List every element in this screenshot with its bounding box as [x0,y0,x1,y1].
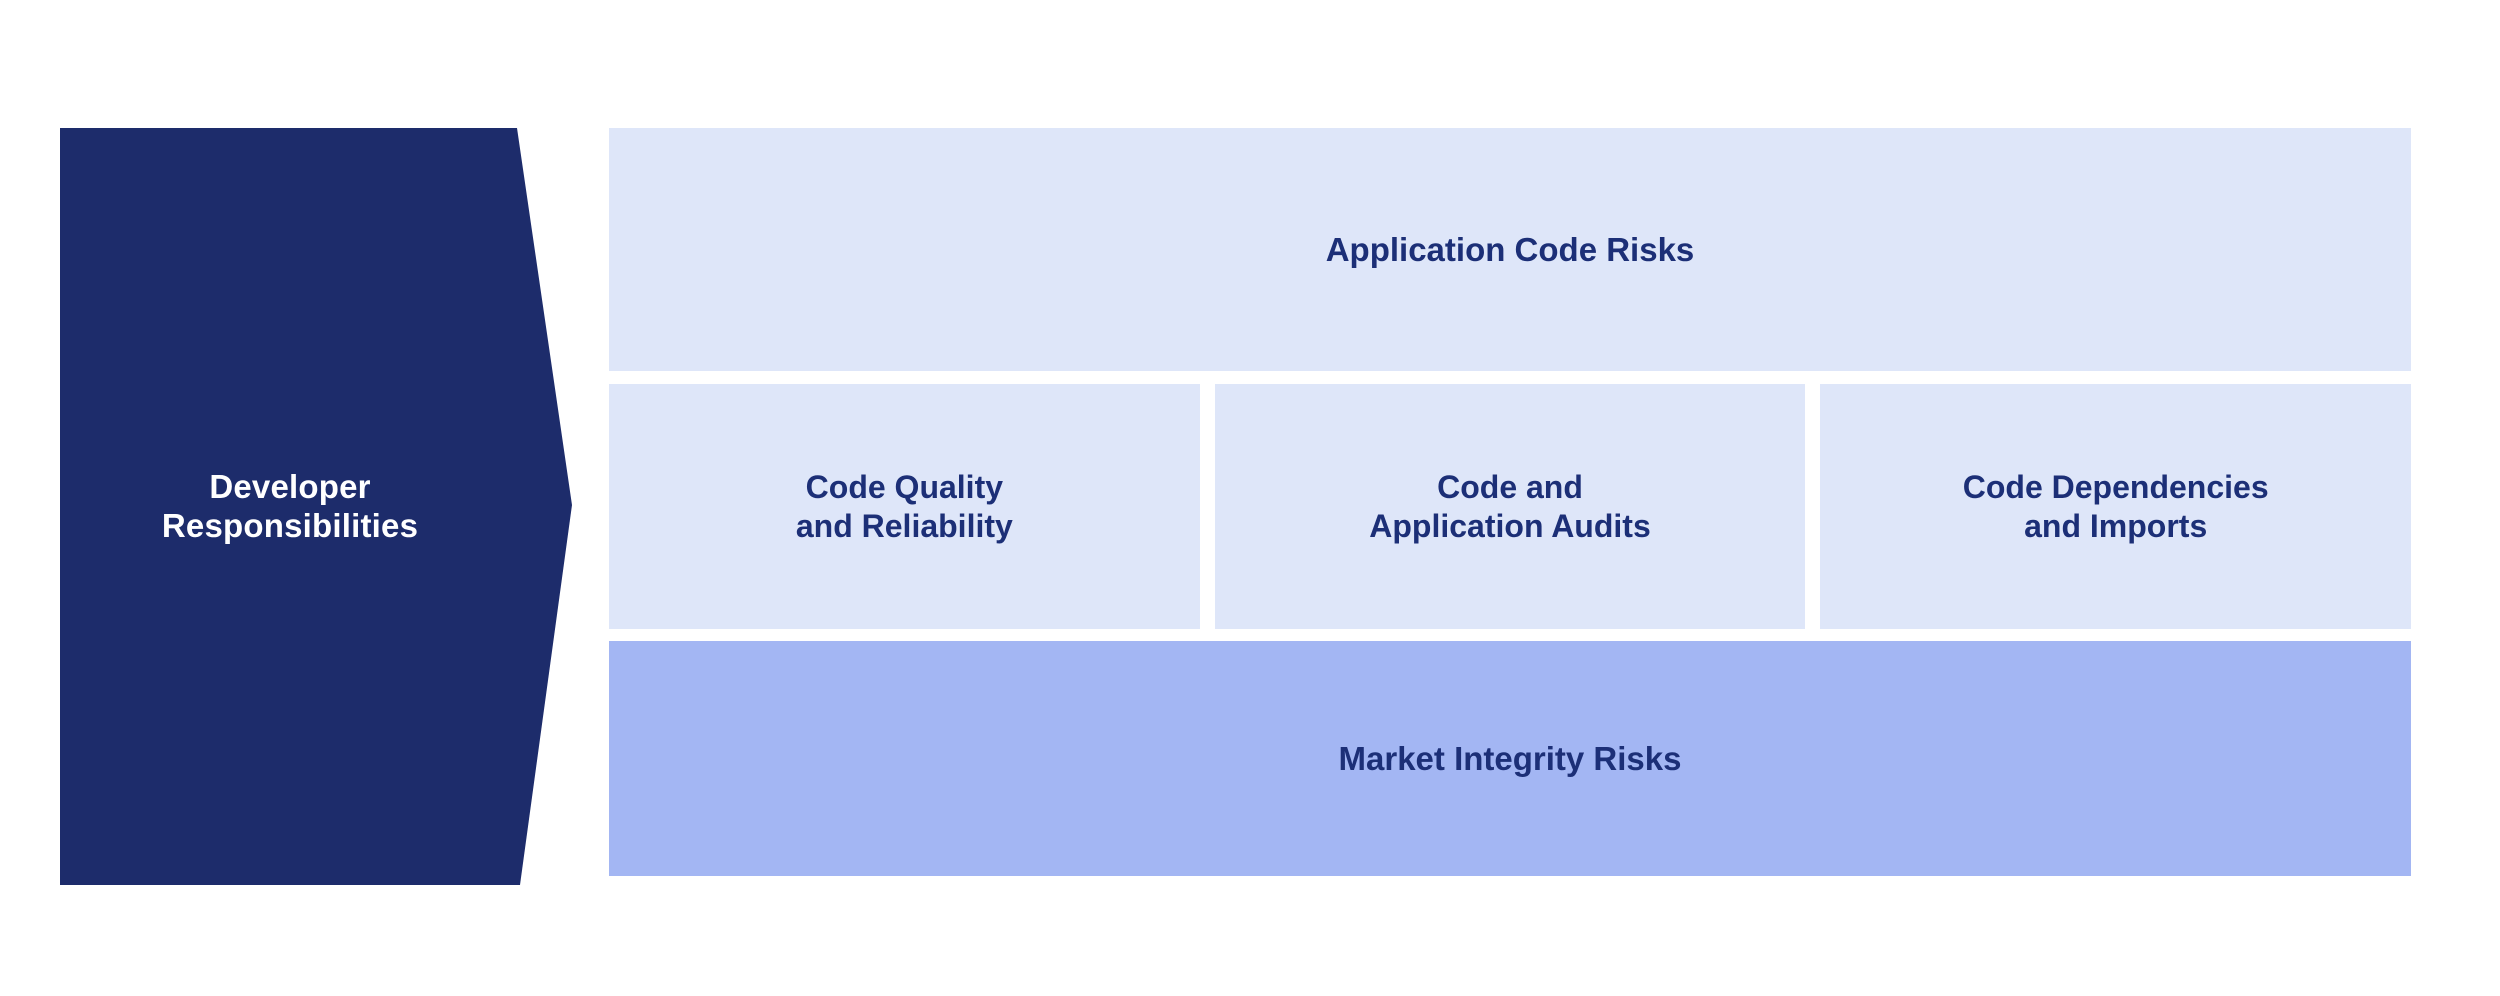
cell-code-quality-line-2: and Reliability [796,507,1013,545]
band-market-integrity-risks-label: Market Integrity Risks [1339,740,1682,778]
developer-responsibilities-chevron[interactable]: Developer Responsibilities [60,128,575,886]
band-market-integrity-risks[interactable]: Market Integrity Risks [609,641,2411,876]
cell-code-quality-line-1: Code Quality [806,468,1003,506]
cell-code-quality[interactable]: Code Quality and Reliability [609,384,1200,629]
risk-bands-stack: Application Code Risks Code Quality and … [609,128,2411,876]
cell-code-audits-line-1: Code and [1437,468,1583,506]
cell-code-dependencies-line-1: Code Dependencies [1963,468,2269,506]
band-application-code-risks[interactable]: Application Code Risks [609,128,2411,371]
cell-code-dependencies-line-2: and Imports [2024,507,2207,545]
cell-code-dependencies[interactable]: Code Dependencies and Imports [1820,384,2411,629]
chevron-shape-icon [60,128,575,886]
band-application-code-risks-label: Application Code Risks [1326,231,1695,269]
subcategory-row: Code Quality and Reliability Code and Ap… [609,384,2411,629]
diagram-canvas: Developer Responsibilities Application C… [0,0,2500,996]
cell-code-audits[interactable]: Code and Application Audits [1215,384,1806,629]
cell-code-audits-line-2: Application Audits [1369,507,1650,545]
